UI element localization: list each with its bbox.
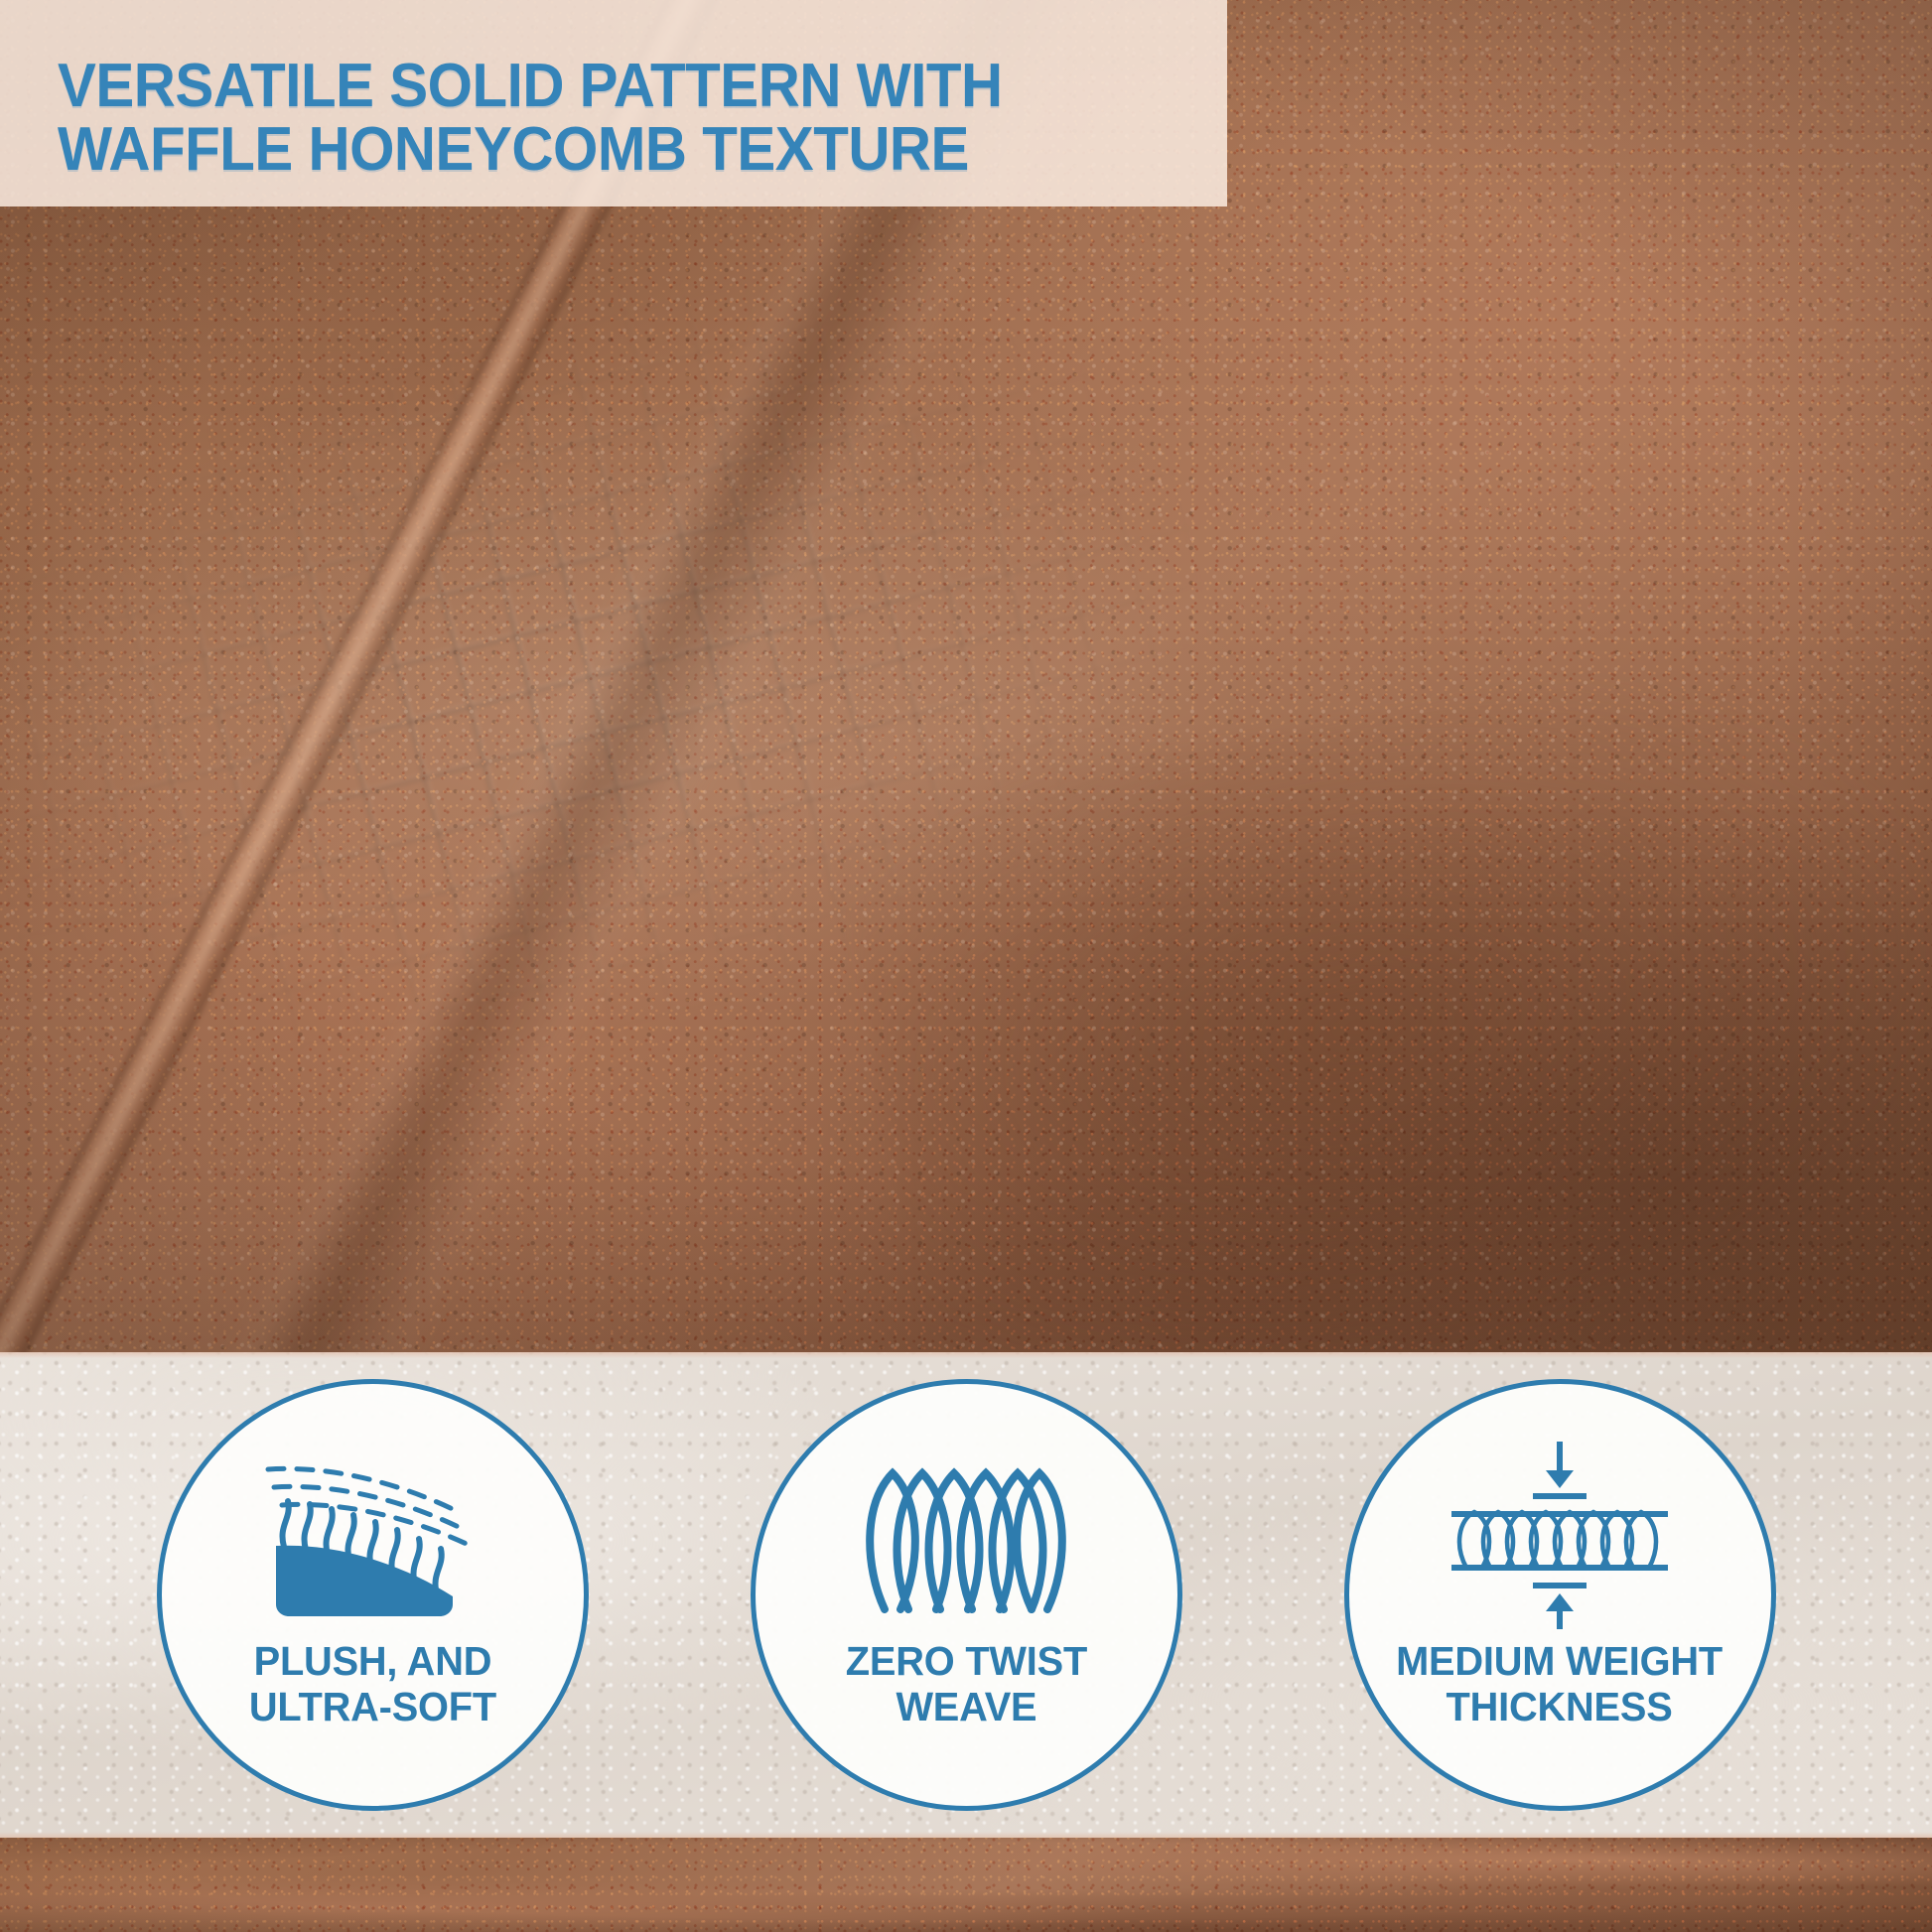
badge-label: ZERO TWIST WEAVE	[845, 1639, 1086, 1730]
header-banner: VERSATILE SOLID PATTERN WITH WAFFLE HONE…	[0, 0, 1227, 207]
towel-photo-footer	[0, 1838, 1932, 1932]
header-line-2: WAFFLE HONEYCOMB TEXTURE	[58, 118, 1157, 182]
badge-zero-twist-weave[interactable]: ZERO TWIST WEAVE	[751, 1379, 1182, 1811]
feature-badge-strip: PLUSH, AND ULTRA-SOFT	[0, 1352, 1932, 1838]
badge-plush-ultra-soft[interactable]: PLUSH, AND ULTRA-SOFT	[157, 1379, 589, 1811]
product-feature-image: VERSATILE SOLID PATTERN WITH WAFFLE HONE…	[0, 0, 1932, 1932]
badge-medium-weight-thickness[interactable]: MEDIUM WEIGHT THICKNESS	[1344, 1379, 1776, 1811]
header-line-1: VERSATILE SOLID PATTERN WITH	[58, 55, 1157, 118]
photo-vignette-footer	[0, 1838, 1932, 1932]
thickness-arrows-loops-icon	[1431, 1438, 1689, 1631]
badge-label: MEDIUM WEIGHT THICKNESS	[1397, 1639, 1724, 1730]
zero-twist-yarn-loops-icon	[847, 1438, 1085, 1631]
badge-label: PLUSH, AND ULTRA-SOFT	[248, 1639, 495, 1730]
plush-fabric-icon	[248, 1438, 496, 1631]
badge-list: PLUSH, AND ULTRA-SOFT	[0, 1352, 1932, 1838]
